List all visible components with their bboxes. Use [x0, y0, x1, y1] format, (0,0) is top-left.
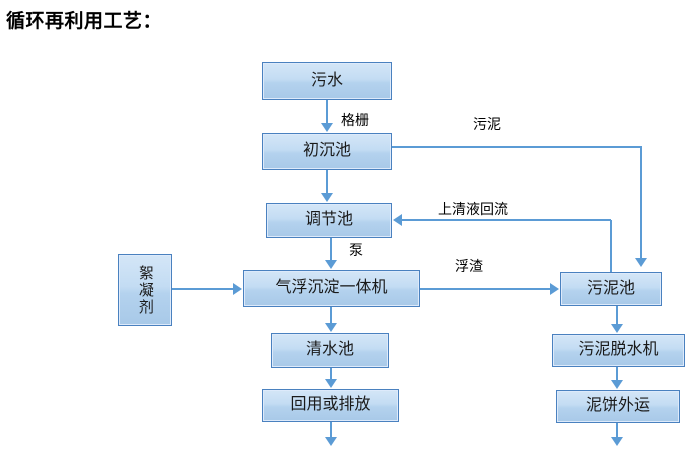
edge-primary-tank-to-sludge-pond-arrow	[635, 258, 647, 267]
node-primary-tank-label: 初沉池	[303, 143, 351, 160]
node-flocculant[interactable]: 絮凝剂	[118, 254, 172, 326]
edge-label-supernatant-return: 上清液回流	[438, 199, 508, 219]
edge-primary-tank-to-regulating-tank	[326, 170, 328, 194]
edge-primary-tank-to-sludge-pond-horizontal	[392, 146, 642, 148]
node-sludge-dewaterer-label: 污泥脱水机	[578, 342, 658, 359]
node-mud-cake-out[interactable]: 泥饼外运	[556, 390, 680, 423]
node-clean-water-tank-label: 清水池	[306, 342, 354, 359]
node-reuse-discharge[interactable]: 回用或排放	[262, 389, 399, 422]
edge-primary-tank-to-regulating-tank-arrow	[321, 193, 333, 202]
edge-sludge-pond-to-regulating-tank-arrow	[393, 214, 402, 226]
edge-wastewater-to-primary-tank-arrow	[321, 123, 333, 132]
edge-sludge-pond-to-sludge-dewaterer	[616, 306, 618, 324]
edge-sludge-pond-to-regulating-tank-horizontal	[402, 219, 611, 221]
node-mud-cake-out-label: 泥饼外运	[586, 398, 650, 415]
edge-sludge-dewaterer-to-mud-cake-out	[616, 367, 618, 380]
edge-wastewater-to-primary-tank	[326, 100, 328, 124]
edge-sludge-dewaterer-to-mud-cake-out-arrow	[611, 380, 623, 389]
edge-reuse-discharge-outflow-arrow	[325, 437, 337, 446]
edge-sludge-pond-to-regulating-tank-vertical	[610, 220, 612, 272]
edge-flotation-machine-to-sludge-pond-arrow	[550, 283, 559, 295]
node-wastewater-label: 污水	[311, 73, 343, 90]
edge-label-grating: 格栅	[341, 110, 369, 130]
edge-flocculant-to-flotation-machine	[172, 288, 234, 290]
node-reuse-discharge-label: 回用或排放	[290, 397, 370, 414]
node-clean-water-tank[interactable]: 清水池	[271, 333, 389, 368]
node-sludge-pond[interactable]: 污泥池	[560, 272, 662, 306]
node-flocculant-label: 絮凝剂	[137, 265, 153, 316]
edge-primary-tank-to-sludge-pond-vertical	[640, 146, 642, 258]
node-primary-tank[interactable]: 初沉池	[262, 133, 392, 170]
flowchart-canvas: 循环再利用工艺： 污水 初沉池 调节池 絮凝剂 气浮沉淀一体机 清水池 回用或排…	[0, 0, 700, 450]
node-sludge-pond-label: 污泥池	[587, 281, 635, 298]
edge-flotation-machine-to-clean-water-tank-arrow	[325, 323, 337, 332]
edge-reuse-discharge-outflow	[330, 422, 332, 438]
edge-flocculant-to-flotation-machine-arrow	[233, 283, 242, 295]
edge-label-scum: 浮渣	[455, 256, 483, 276]
edge-label-pump: 泵	[349, 240, 363, 260]
node-flotation-machine-label: 气浮沉淀一体机	[275, 280, 387, 297]
node-sludge-dewaterer[interactable]: 污泥脱水机	[552, 334, 685, 367]
node-wastewater[interactable]: 污水	[262, 62, 392, 100]
edge-mud-cake-out-outflow	[616, 423, 618, 438]
edge-regulating-tank-to-flotation-machine	[330, 238, 332, 261]
edge-mud-cake-out-outflow-arrow	[611, 437, 623, 446]
edge-flotation-machine-to-sludge-pond	[420, 288, 551, 290]
node-flotation-machine[interactable]: 气浮沉淀一体机	[243, 270, 420, 307]
page-title: 循环再利用工艺：	[6, 6, 162, 33]
edge-sludge-pond-to-sludge-dewaterer-arrow	[611, 324, 623, 333]
edge-regulating-tank-to-flotation-machine-arrow	[325, 260, 337, 269]
edge-flotation-machine-to-clean-water-tank	[330, 307, 332, 324]
edge-label-sludge: 污泥	[473, 114, 501, 134]
node-regulating-tank-label: 调节池	[305, 212, 353, 229]
node-regulating-tank[interactable]: 调节池	[266, 203, 392, 238]
edge-clean-water-tank-to-reuse-discharge-arrow	[325, 379, 337, 388]
